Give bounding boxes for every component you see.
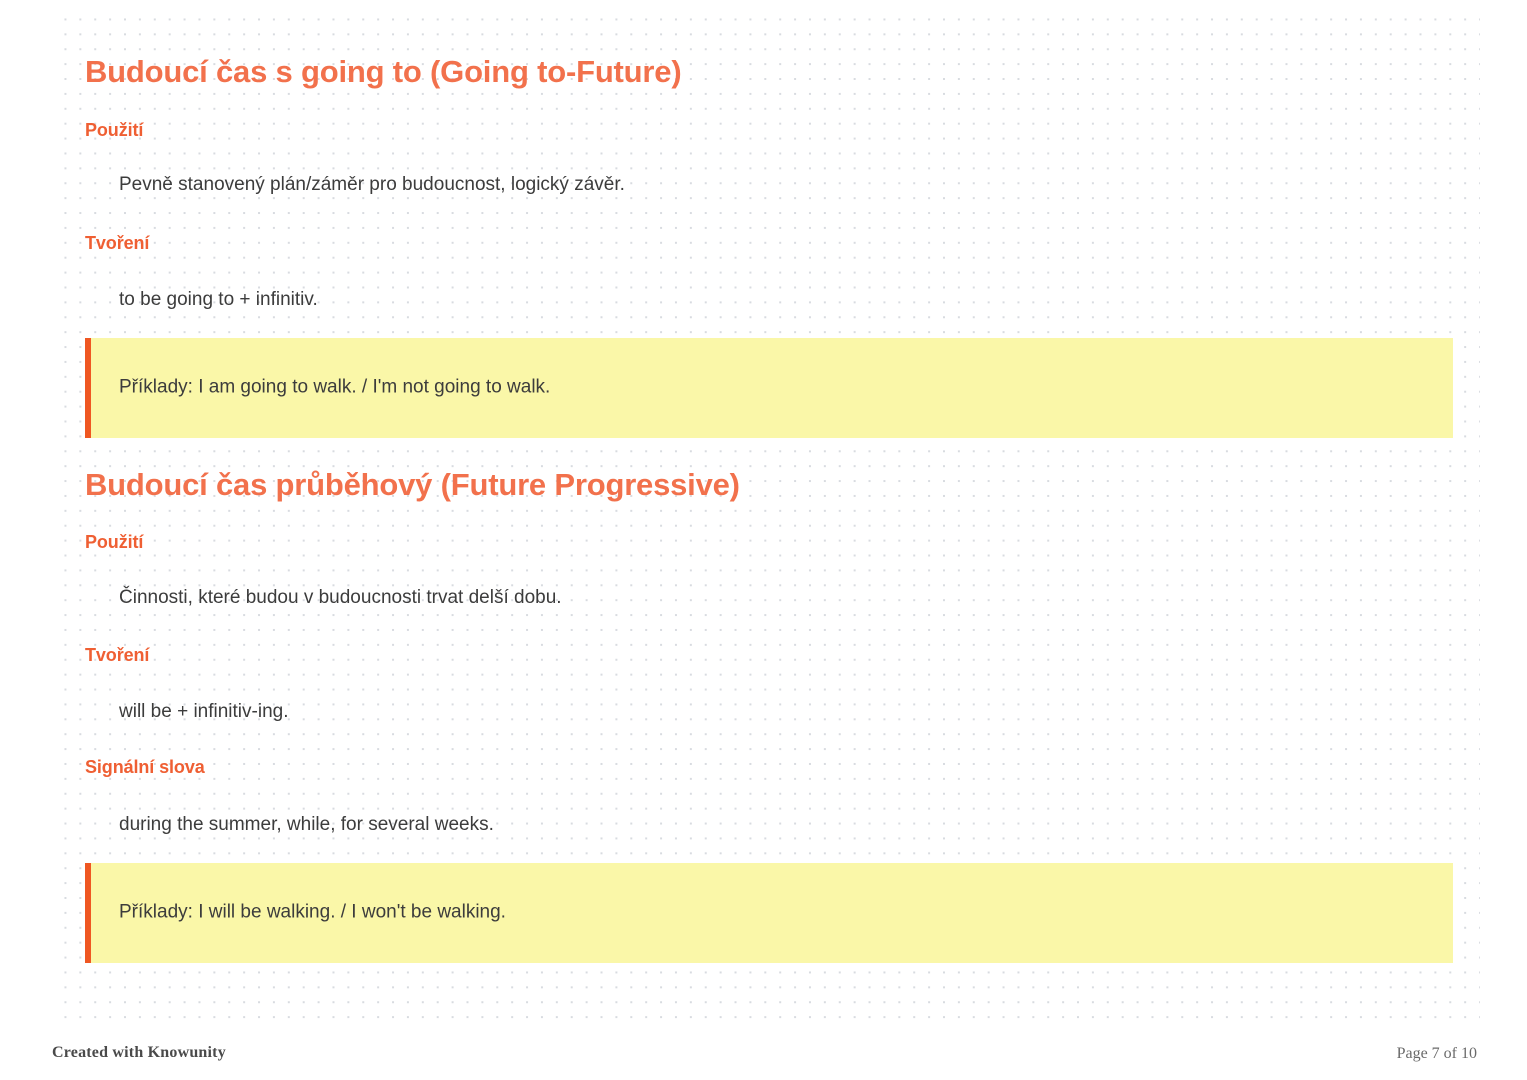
subheading-formation-2: Tvoření: [85, 645, 149, 667]
signal-words-text-2: during the summer, while, for several we…: [85, 813, 494, 838]
example-text-1: Příklady: I am going to walk. / I'm not …: [91, 376, 550, 401]
subheading-usage-2: Použití: [85, 532, 143, 554]
subheading-signal-words-2: Signální slova: [85, 757, 205, 779]
section-title-going-to: Budoucí čas s going to (Going to-Future): [85, 54, 681, 90]
formation-text-2: will be + infinitiv-ing.: [85, 700, 289, 725]
example-callout-2: Příklady: I will be walking. / I won't b…: [85, 863, 1453, 963]
subheading-usage-1: Použití: [85, 120, 143, 142]
example-callout-1: Příklady: I am going to walk. / I'm not …: [85, 338, 1453, 438]
usage-text-1: Pevně stanovený plán/záměr pro budoucnos…: [85, 173, 625, 198]
footer-page-indicator: Page 7 of 10: [1397, 1045, 1477, 1063]
subheading-formation-1: Tvoření: [85, 233, 149, 255]
example-text-2: Příklady: I will be walking. / I won't b…: [91, 901, 506, 926]
footer-credit: Created with Knowunity: [52, 1044, 226, 1062]
document-page: Budoucí čas s going to (Going to-Future)…: [0, 0, 1527, 1080]
section-title-future-progressive: Budoucí čas průběhový (Future Progressiv…: [85, 467, 740, 503]
usage-text-2: Činnosti, které budou v budoucnosti trva…: [85, 586, 562, 611]
formation-text-1: to be going to + infinitiv.: [85, 288, 318, 313]
